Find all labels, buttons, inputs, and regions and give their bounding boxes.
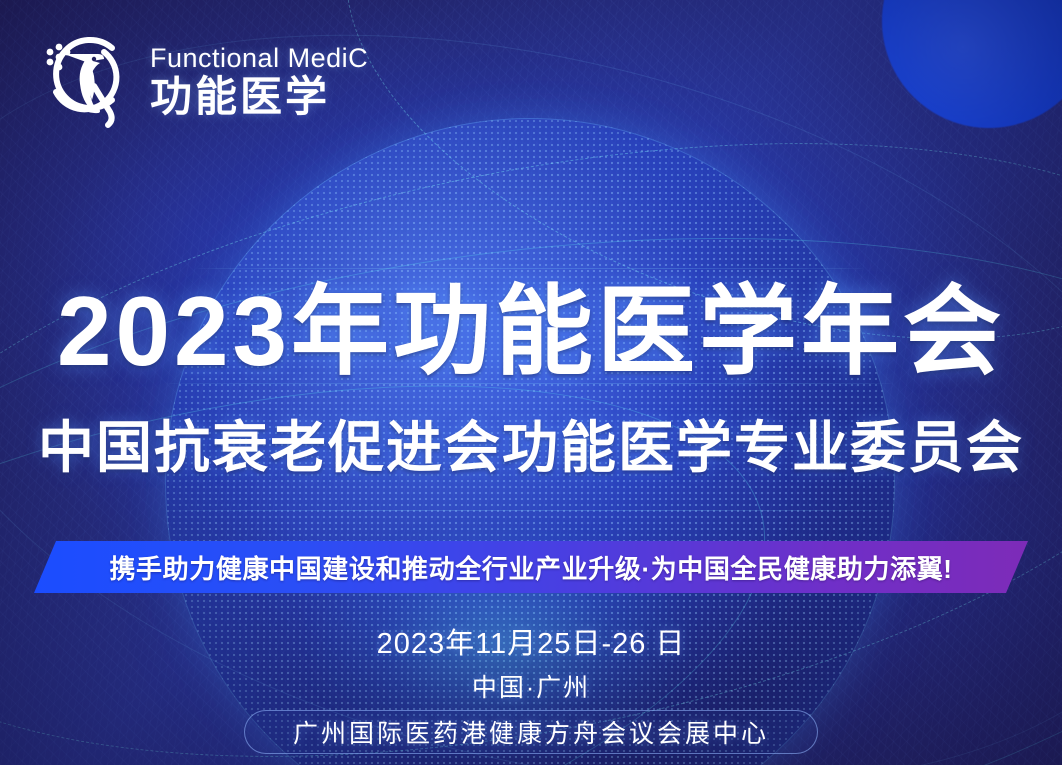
page-title: 2023年功能医学年会 (0, 282, 1062, 380)
event-venue-text: 广州国际医药港健康方舟会议会展中心 (293, 714, 769, 750)
brand-logo: Functional MediC 功能医学 (34, 26, 368, 134)
event-city: 中国·广州 (0, 668, 1062, 704)
brand-logo-text: Functional MediC 功能医学 (150, 43, 368, 118)
page-subtitle: 中国抗衰老促进会功能医学专业委员会 (0, 420, 1062, 476)
brand-english-name: Functional MediC (150, 43, 368, 74)
event-venue-badge: 广州国际医药港健康方舟会议会展中心 (244, 710, 818, 754)
tagline-ribbon: 携手助力健康中国建设和推动全行业产业升级·为中国全民健康助力添翼! (34, 541, 1028, 593)
conference-poster: Functional MediC 功能医学 2023年功能医学年会 中国抗衰老促… (0, 0, 1062, 765)
bird-in-circle-logo-icon (34, 26, 138, 134)
brand-chinese-name: 功能医学 (150, 76, 368, 118)
tagline-text: 携手助力健康中国建设和推动全行业产业升级·为中国全民健康助力添翼! (109, 549, 952, 586)
event-date: 2023年11月25日-26 日 (0, 620, 1062, 662)
